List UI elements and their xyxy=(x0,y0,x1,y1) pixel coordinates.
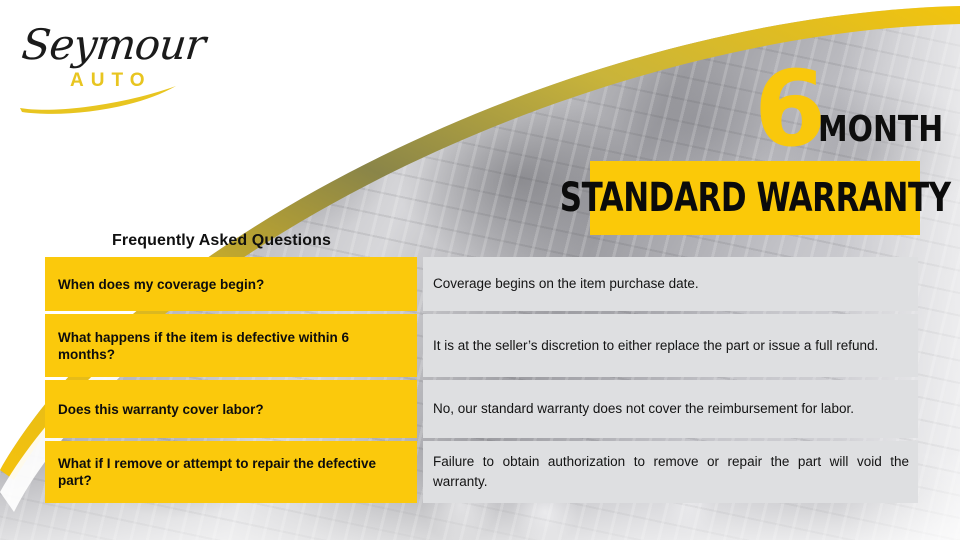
faq-question-cell: Does this warranty cover labor? xyxy=(45,380,417,438)
standard-warranty-band: STANDARD WARRANTY xyxy=(590,161,920,235)
faq-answer-cell: Failure to obtain authorization to remov… xyxy=(423,441,918,503)
faq-heading: Frequently Asked Questions xyxy=(112,232,331,250)
faq-question-cell: What if I remove or attempt to repair th… xyxy=(45,441,417,503)
standard-warranty-label: STANDARD WARRANTY xyxy=(560,178,951,218)
table-row: What if I remove or attempt to repair th… xyxy=(45,441,918,503)
faq-question-cell: When does my coverage begin? xyxy=(45,257,417,311)
warranty-duration-headline: 6 MONTH xyxy=(742,52,942,152)
table-row: Does this warranty cover labor? No, our … xyxy=(45,380,918,438)
faq-question-text: Does this warranty cover labor? xyxy=(58,401,264,418)
brand-logo[interactable]: Seymour AUTO xyxy=(16,14,196,114)
table-row: When does my coverage begin? Coverage be… xyxy=(45,257,918,311)
logo-swoosh-icon xyxy=(16,74,196,114)
table-row: What happens if the item is defective wi… xyxy=(45,314,918,377)
logo-script-text: Seymour xyxy=(19,20,207,69)
faq-answer-cell: No, our standard warranty does not cover… xyxy=(423,380,918,438)
faq-answer-cell: Coverage begins on the item purchase dat… xyxy=(423,257,918,311)
faq-answer-text: Failure to obtain authorization to remov… xyxy=(433,452,909,492)
warranty-months-number: 6 xyxy=(754,66,823,152)
faq-answer-text: Coverage begins on the item purchase dat… xyxy=(433,274,909,294)
faq-question-text: What happens if the item is defective wi… xyxy=(58,329,404,363)
faq-question-cell: What happens if the item is defective wi… xyxy=(45,314,417,377)
faq-question-text: What if I remove or attempt to repair th… xyxy=(58,455,404,489)
warranty-months-unit: MONTH xyxy=(818,112,943,148)
faq-table: When does my coverage begin? Coverage be… xyxy=(45,257,918,503)
faq-answer-text: It is at the seller’s discretion to eith… xyxy=(433,336,909,356)
faq-question-text: When does my coverage begin? xyxy=(58,276,264,293)
faq-answer-cell: It is at the seller’s discretion to eith… xyxy=(423,314,918,377)
warranty-slide: Seymour AUTO 6 MONTH STANDARD WARRANTY F… xyxy=(0,0,960,540)
faq-answer-text: No, our standard warranty does not cover… xyxy=(433,399,909,419)
